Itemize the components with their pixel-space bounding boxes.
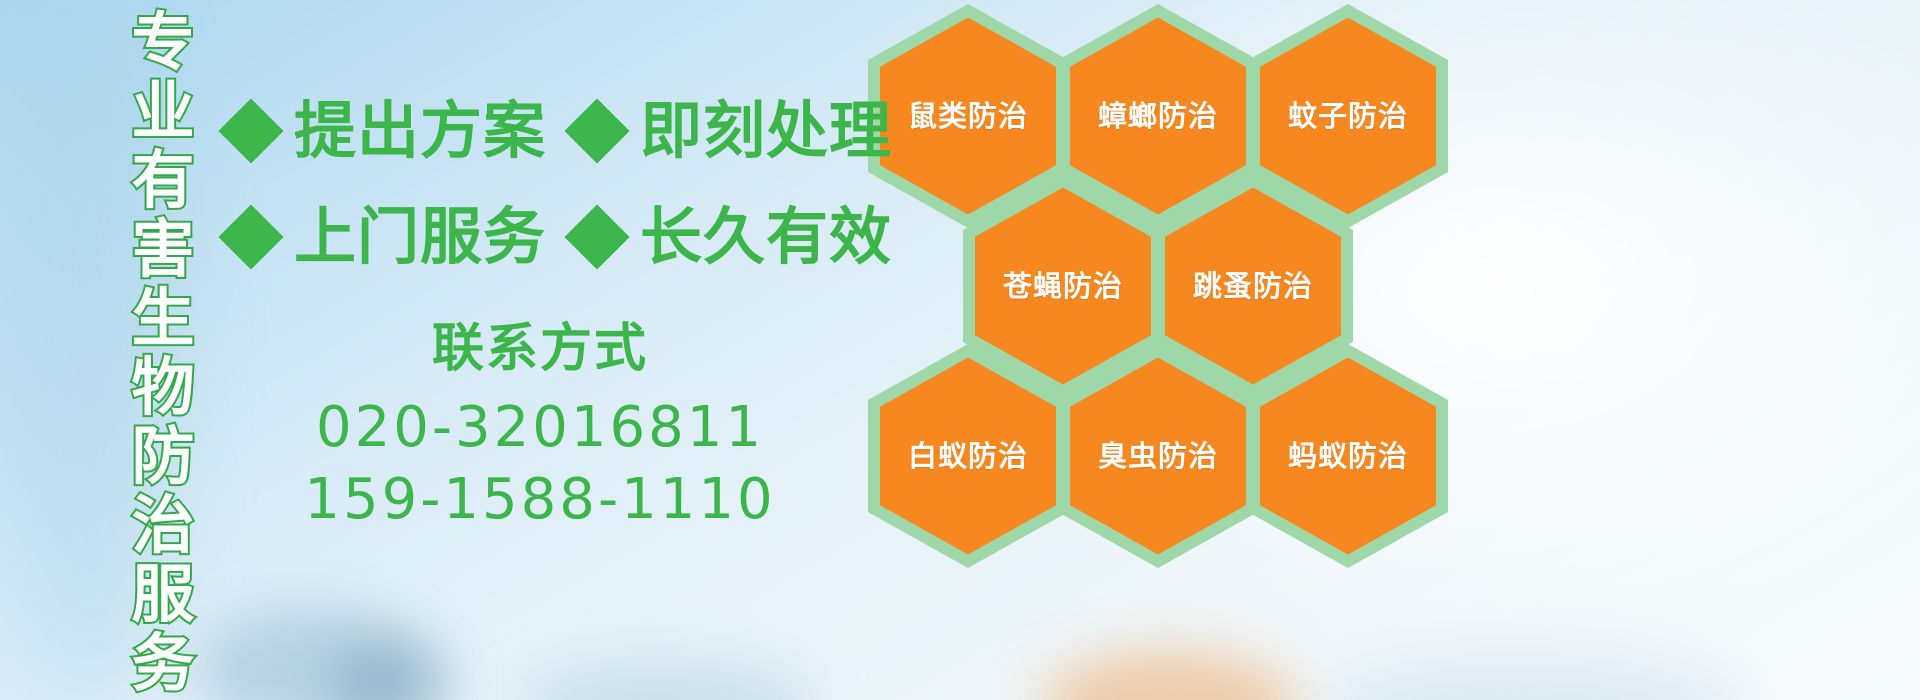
feature-item-propose-plan: 提出方案 <box>228 100 546 162</box>
vertical-title-char: 业 <box>132 77 195 146</box>
hex-inner: 白蚁防治 <box>880 358 1056 555</box>
feature-label: 上门服务 <box>294 206 546 268</box>
contact-block: 联系方式 020-32016811 159-1588-1110 <box>280 318 800 536</box>
vertical-title-char: 有 <box>132 146 195 215</box>
service-label: 蚂蚁防治 <box>1288 440 1408 472</box>
service-label: 蚊子防治 <box>1288 100 1408 132</box>
service-label: 苍蝇防治 <box>1003 270 1123 302</box>
diamond-icon <box>564 204 629 269</box>
vertical-title-char: 治 <box>132 491 195 560</box>
vertical-title: 专 业 有 害 生 物 防 治 服 务 <box>108 8 218 568</box>
hex-inner: 蚊子防治 <box>1260 18 1436 215</box>
pest-control-service-banner: 专 业 有 害 生 物 防 治 服 务 提出方案 即刻处理 上门服务 <box>0 0 1920 700</box>
contact-phone-landline[interactable]: 020-32016811 <box>280 392 800 464</box>
background-blur-b <box>330 640 450 700</box>
vertical-title-char: 害 <box>132 215 195 284</box>
hex-inner: 跳蚤防治 <box>1165 188 1341 385</box>
service-label: 臭虫防治 <box>1098 440 1218 472</box>
feature-row: 提出方案 即刻处理 <box>228 78 892 184</box>
background-blur-a <box>200 610 420 700</box>
hex-inner: 苍蝇防治 <box>975 188 1151 385</box>
vertical-title-char: 物 <box>132 353 195 422</box>
feature-item-long-lasting: 长久有效 <box>574 206 892 268</box>
feature-row: 上门服务 长久有效 <box>228 184 892 290</box>
hex-inner: 臭虫防治 <box>1070 358 1246 555</box>
vertical-title-char: 服 <box>132 560 195 629</box>
feature-list: 提出方案 即刻处理 上门服务 长久有效 <box>228 78 892 290</box>
service-label: 白蚁防治 <box>908 440 1028 472</box>
service-label: 跳蚤防治 <box>1193 270 1313 302</box>
hex-inner: 鼠类防治 <box>880 18 1056 215</box>
diamond-icon <box>564 98 629 163</box>
vertical-title-char: 务 <box>132 629 195 698</box>
feature-item-immediate-handling: 即刻处理 <box>574 100 892 162</box>
contact-phone-mobile[interactable]: 159-1588-1110 <box>280 464 800 536</box>
service-label: 蟑螂防治 <box>1098 100 1218 132</box>
feature-label: 提出方案 <box>294 100 546 162</box>
vertical-title-char: 防 <box>132 422 195 491</box>
feature-item-door-to-door: 上门服务 <box>228 206 546 268</box>
vertical-title-char: 专 <box>132 8 195 77</box>
hex-inner: 蟑螂防治 <box>1070 18 1246 215</box>
service-hexagon-grid: 鼠类防治 蟑螂防治 蚊子防治 苍蝇防治 跳蚤防治 白蚁防治 <box>860 0 1460 700</box>
diamond-icon <box>218 204 283 269</box>
vertical-title-char: 生 <box>132 284 195 353</box>
feature-label: 即刻处理 <box>640 100 892 162</box>
hex-inner: 蚂蚁防治 <box>1260 358 1436 555</box>
service-label: 鼠类防治 <box>908 100 1028 132</box>
feature-label: 长久有效 <box>640 206 892 268</box>
diamond-icon <box>218 98 283 163</box>
background-blur-c <box>520 660 820 700</box>
contact-title: 联系方式 <box>280 318 800 380</box>
